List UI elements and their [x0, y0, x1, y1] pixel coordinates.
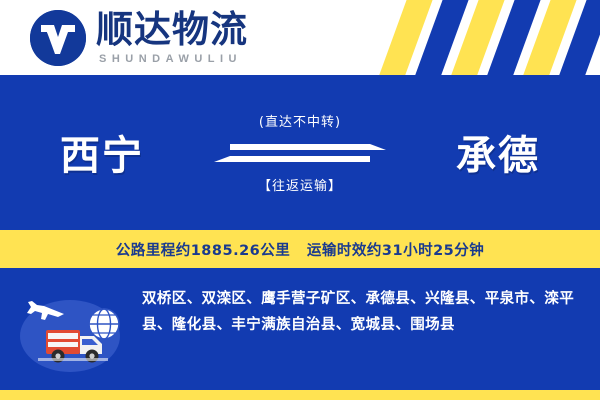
route-middle: (直达不中转) 【往返运输】 — [190, 111, 410, 194]
truck-plane-globe-icon — [18, 286, 130, 378]
header-stripes — [370, 0, 600, 75]
double-arrow-icon — [190, 140, 410, 166]
coverage-area-list: 双桥区、双滦区、鹰手营子矿区、承德县、兴隆县、平泉市、滦平县、隆化县、丰宁满族自… — [142, 286, 582, 338]
company-name-cn: 顺达物流 — [96, 11, 248, 50]
footer-strip — [0, 390, 600, 400]
destination-city: 承德 — [456, 123, 540, 181]
main-panel: 西宁 承德 (直达不中转) 【往返运输】 公路里程约1885.26公里 运输时效… — [0, 75, 600, 400]
info-bar: 公路里程约1885.26公里 运输时效约31小时25分钟 — [0, 230, 600, 268]
distance-duration-label: 公路里程约1885.26公里 运输时效约31小时25分钟 — [116, 239, 485, 260]
origin-city: 西宁 — [60, 123, 144, 181]
header: 顺达物流 SHUNDAWULIU — [0, 0, 600, 75]
logo-swoosh-icon — [30, 10, 86, 66]
poster-root: 顺达物流 SHUNDAWULIU 西宁 承德 (直达不中转) — [0, 0, 600, 400]
company-name-en: SHUNDAWULIU — [99, 53, 248, 65]
route-section: 西宁 承德 (直达不中转) 【往返运输】 — [0, 75, 600, 230]
round-trip-note: 【往返运输】 — [190, 175, 410, 194]
coverage-section: 双桥区、双滦区、鹰手营子矿区、承德县、兴隆县、平泉市、滦平县、隆化县、丰宁满族自… — [0, 268, 600, 400]
direct-note: (直达不中转) — [190, 111, 410, 130]
logo-text: 顺达物流 SHUNDAWULIU — [96, 11, 248, 65]
logo: 顺达物流 SHUNDAWULIU — [30, 10, 248, 66]
